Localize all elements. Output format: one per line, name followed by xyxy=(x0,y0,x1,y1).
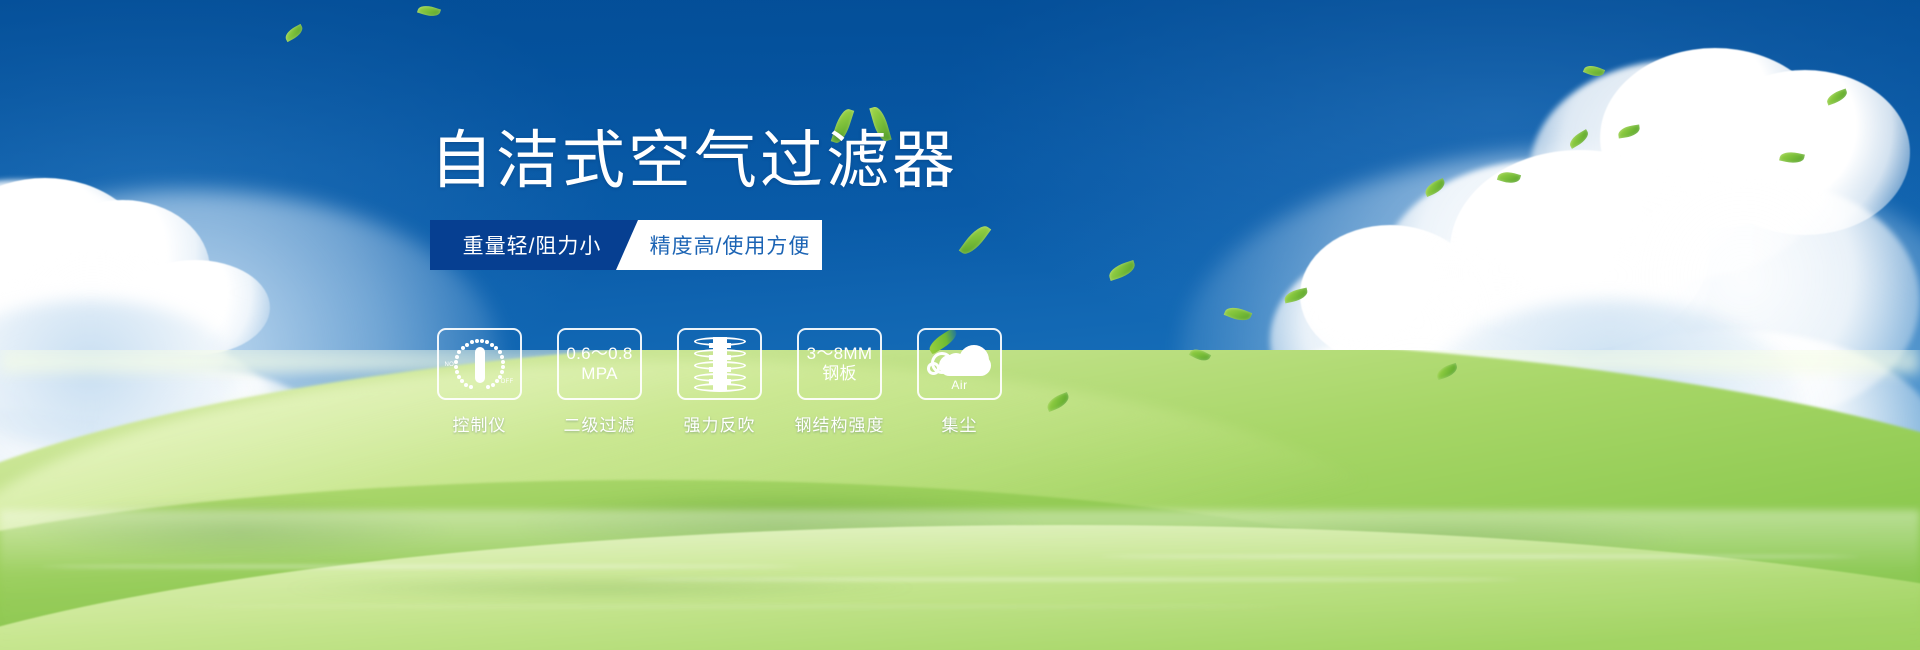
gauge-tick-dot xyxy=(495,379,499,383)
tab-weight-resistance-label: 重量轻/阻力小 xyxy=(463,230,602,260)
cloud-air-label: Air xyxy=(925,378,995,392)
gauge-tick-dot xyxy=(475,339,479,343)
grass-sheen xyxy=(0,510,1920,650)
feature-label-backblow: 强力反吹 xyxy=(684,411,756,436)
gauge-tick-dot xyxy=(469,385,473,389)
gauge-tick-dot xyxy=(461,346,465,350)
feature-box-steel-strength: 3～8MM 钢板 xyxy=(797,328,882,400)
feature-label-steel-strength: 钢结构强度 xyxy=(795,411,885,436)
feature-label-two-stage-filter: 二级过滤 xyxy=(564,411,636,436)
feature-item-steel-strength[interactable]: 3～8MM 钢板 钢结构强度 xyxy=(797,328,882,436)
gauge-tick-dot xyxy=(501,360,505,364)
gauge-tick-dot xyxy=(465,343,469,347)
gauge-icon: NO OFF xyxy=(445,334,515,394)
steel-text-icon: 3～8MM 钢板 xyxy=(807,344,873,384)
feature-tabs: 重量轻/阻力小 精度高/使用方便 xyxy=(430,220,822,270)
rings-ring-1 xyxy=(694,337,746,346)
pressure-text-icon: 0.6～0.8 MPA xyxy=(566,344,632,384)
gauge-tick-dot xyxy=(457,350,461,354)
hero-content: 自洁式空气过滤器 重量轻/阻力小 精度高/使用方便 xyxy=(430,130,1070,270)
gauge-tick-dot xyxy=(494,346,498,350)
gauge-tick-dot xyxy=(500,370,504,374)
feature-item-backblow[interactable]: 强力反吹 xyxy=(677,328,762,436)
page-title: 自洁式空气过滤器 xyxy=(430,130,1070,193)
gauge-tick-dot xyxy=(491,383,495,387)
feature-box-controller: NO OFF xyxy=(437,328,522,400)
gauge-needle xyxy=(475,347,485,383)
cloud-leaf-streak xyxy=(926,328,959,355)
gauge-tick-dot xyxy=(455,355,459,359)
rings-ring-3 xyxy=(694,361,746,370)
gauge-tick-dot xyxy=(480,339,484,343)
rings-ring-4 xyxy=(694,373,746,382)
stacked-rings-icon xyxy=(694,335,746,393)
feature-box-two-stage-filter: 0.6～0.8 MPA xyxy=(557,328,642,400)
cloud-air-icon: Air xyxy=(925,335,995,393)
gauge-tick-dot xyxy=(500,355,504,359)
product-hero-banner: 自洁式空气过滤器 重量轻/阻力小 精度高/使用方便 NO OFF 控制仪 xyxy=(0,0,1920,650)
feature-item-two-stage-filter[interactable]: 0.6～0.8 MPA 二级过滤 xyxy=(557,328,642,436)
gauge-tick-dot xyxy=(454,365,458,369)
feature-item-dust-collection[interactable]: Air 集尘 xyxy=(917,328,1002,436)
rings-ring-2 xyxy=(694,349,746,358)
feature-label-dust-collection: 集尘 xyxy=(942,411,978,436)
gauge-tick-dot xyxy=(485,340,489,344)
feature-label-controller: 控制仪 xyxy=(453,411,507,436)
gauge-tick-dot xyxy=(454,360,458,364)
gauge-tick-dot xyxy=(464,383,468,387)
feature-item-controller[interactable]: NO OFF 控制仪 xyxy=(437,328,522,436)
gauge-tick-dot xyxy=(486,385,490,389)
feature-box-dust-collection: Air xyxy=(917,328,1002,400)
gauge-on-label: NO xyxy=(445,362,455,368)
feature-list: NO OFF 控制仪 0.6～0.8 MPA 二级过滤 xyxy=(437,328,1002,436)
gauge-tick-dot xyxy=(455,370,459,374)
gauge-tick-dot xyxy=(470,340,474,344)
feature-box-backblow xyxy=(677,328,762,400)
gauge-tick-dot xyxy=(501,365,505,369)
gauge-tick-dot xyxy=(498,350,502,354)
tab-precision-convenience-label: 精度高/使用方便 xyxy=(650,230,811,260)
cloud-swirl-small xyxy=(927,362,940,375)
tab-precision-convenience[interactable]: 精度高/使用方便 xyxy=(616,220,822,270)
gauge-off-label: OFF xyxy=(501,379,514,385)
tab-weight-resistance[interactable]: 重量轻/阻力小 xyxy=(430,220,652,270)
rings-ring-5 xyxy=(694,383,746,392)
gauge-tick-dot xyxy=(460,379,464,383)
gauge-tick-dot xyxy=(457,375,461,379)
